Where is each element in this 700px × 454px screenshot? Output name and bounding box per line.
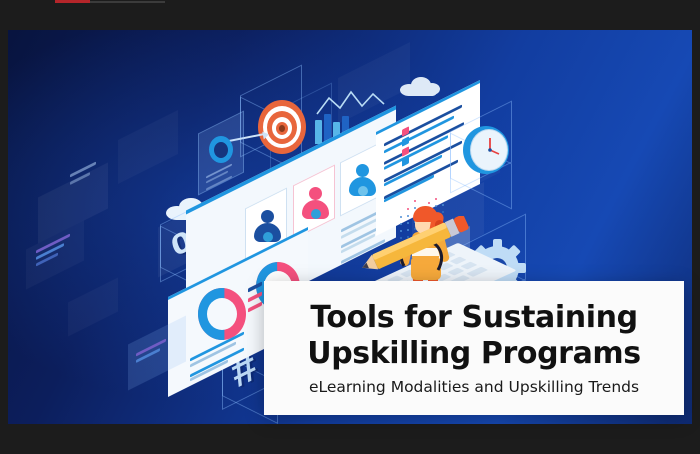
user-avatar-icon (349, 164, 375, 196)
learner-card[interactable] (293, 175, 339, 237)
title-overlay-card: Tools for Sustaining Upskilling Programs… (264, 281, 684, 415)
accent-panel (128, 330, 198, 386)
clock-cube-wireframe (450, 116, 451, 117)
cloud-icon (400, 76, 442, 98)
user-avatar-icon (302, 187, 328, 219)
top-partial-strip (55, 0, 165, 4)
page-subtitle: eLearning Modalities and Upskilling Tren… (309, 378, 639, 396)
background-sheet (68, 278, 118, 337)
background-sheet (118, 110, 178, 184)
track-bar (90, 1, 165, 3)
page-title: Tools for Sustaining Upskilling Programs (307, 300, 640, 370)
target-icon (258, 100, 306, 154)
page-title-line-2: Upskilling Programs (307, 336, 640, 371)
percent-cube-wireframe (160, 210, 161, 211)
user-avatar-icon (254, 210, 280, 242)
donut-chart-icon (198, 288, 246, 340)
pencil-icon (358, 216, 474, 276)
page-title-line-1: Tools for Sustaining (310, 300, 637, 335)
target-cube-wireframe (240, 80, 241, 81)
target-arrow-head (262, 131, 269, 140)
clock-hands-icon (470, 129, 510, 173)
accent-bar (55, 0, 90, 3)
